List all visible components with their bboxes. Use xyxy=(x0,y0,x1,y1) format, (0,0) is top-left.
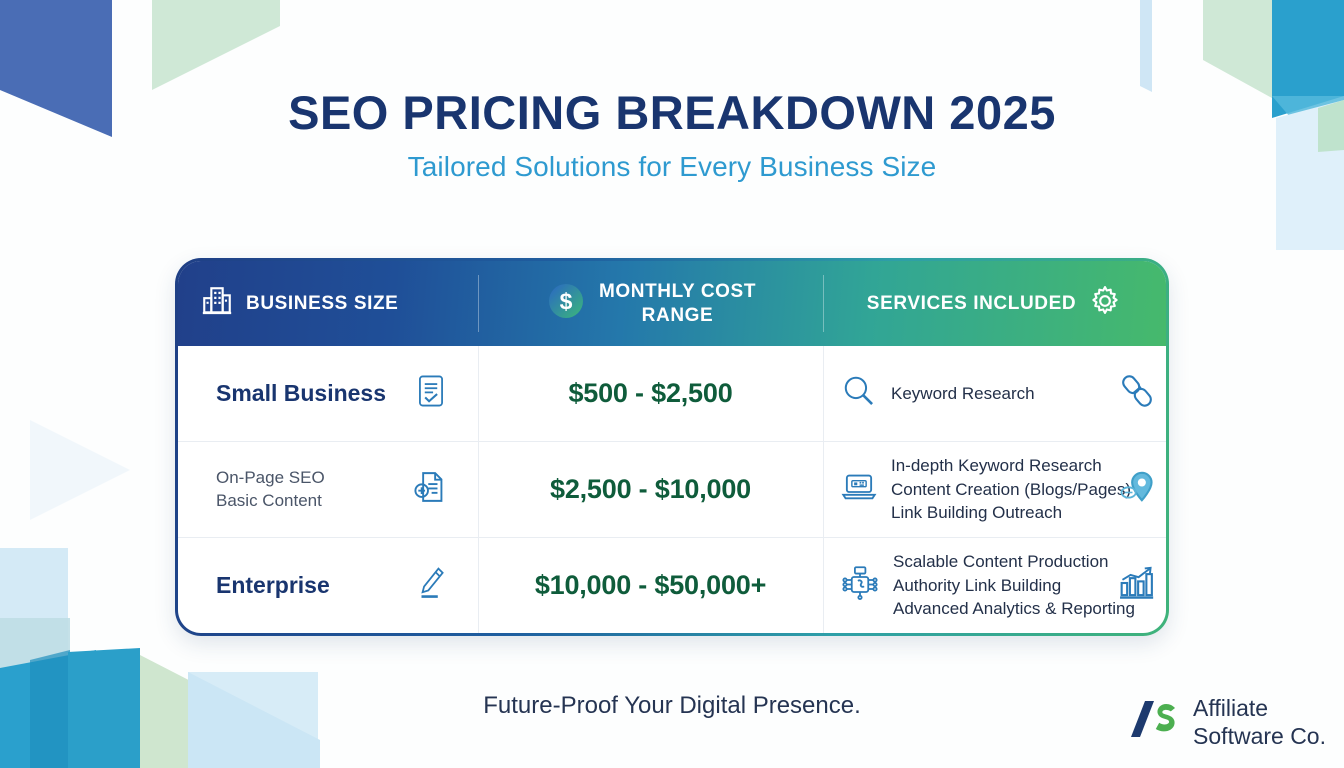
gear-icon xyxy=(1088,284,1122,323)
business-size-label: On-Page SEO Basic Content xyxy=(216,467,325,513)
cost-value: $2,500 - $10,000 xyxy=(550,474,751,505)
laptop-icon xyxy=(839,467,879,512)
deco-shape-top-right-paleblue xyxy=(1140,0,1152,92)
table-row: On-Page SEO Basic Content xyxy=(178,441,1166,537)
cell-monthly-cost: $10,000 - $50,000+ xyxy=(478,538,823,633)
magnifier-icon xyxy=(839,371,879,416)
deco-shape-bottom-left-paleblue-2 xyxy=(188,672,318,768)
title-block: SEO PRICING BREAKDOWN 2025 Tailored Solu… xyxy=(0,88,1344,183)
service-item: Link Building Outreach xyxy=(891,501,1112,524)
link-chain-icon xyxy=(1116,370,1158,417)
brand-name: Affiliate Software Co. xyxy=(1193,695,1326,749)
page-subtitle: Tailored Solutions for Every Business Si… xyxy=(0,151,1344,183)
services-list: Scalable Content Production Authority Li… xyxy=(893,550,1112,620)
deco-shape-top-left-green xyxy=(152,0,280,90)
business-size-label: Enterprise xyxy=(216,572,330,599)
svg-text:$: $ xyxy=(560,289,573,315)
map-pin-icon xyxy=(1116,466,1158,513)
cell-services: In-depth Keyword Research Content Creati… xyxy=(823,442,1166,537)
cell-services: Keyword Research xyxy=(823,346,1166,441)
cost-value: $10,000 - $50,000+ xyxy=(535,570,766,601)
column-header-label: BUSINESS SIZE xyxy=(246,292,398,315)
services-list: In-depth Keyword Research Content Creati… xyxy=(891,454,1112,524)
service-item: Advanced Analytics & Reporting xyxy=(893,597,1112,620)
service-item: Scalable Content Production xyxy=(893,550,1112,573)
table-row: Small Business $500 - $2, xyxy=(178,346,1166,441)
table-header-row: BUSINESS SIZE $ xyxy=(178,261,1166,346)
column-header-business-size: BUSINESS SIZE xyxy=(178,261,478,346)
table-row: Enterprise $10,000 - $50,000+ xyxy=(178,537,1166,633)
business-size-label: Small Business xyxy=(216,380,386,407)
pencil-icon xyxy=(414,564,448,607)
deco-shape-bottom-mid-paleblue xyxy=(188,672,320,768)
building-icon xyxy=(200,284,234,323)
column-header-monthly-cost: $ MONTHLY COST RANGE xyxy=(478,261,823,346)
service-item: Content Creation (Blogs/Pages) xyxy=(891,478,1112,501)
bar-chart-icon xyxy=(1116,562,1158,609)
document-plus-icon xyxy=(410,468,448,511)
page-title: SEO PRICING BREAKDOWN 2025 xyxy=(0,88,1344,137)
cell-services: Scalable Content Production Authority Li… xyxy=(823,538,1166,633)
column-header-label: MONTHLY COST RANGE xyxy=(599,280,756,326)
column-header-label: SERVICES INCLUDED xyxy=(867,292,1076,315)
cell-business-size: On-Page SEO Basic Content xyxy=(178,442,478,537)
cell-monthly-cost: $500 - $2,500 xyxy=(478,346,823,441)
cost-value: $500 - $2,500 xyxy=(568,378,732,409)
deco-shape-bottom-left-pale xyxy=(0,548,68,768)
services-list: Keyword Research xyxy=(891,382,1112,405)
table-body: Small Business $500 - $2, xyxy=(178,346,1166,633)
cell-monthly-cost: $2,500 - $10,000 xyxy=(478,442,823,537)
deco-shape-top-right-green xyxy=(1203,0,1272,98)
document-check-icon xyxy=(414,373,448,414)
cell-business-size: Enterprise xyxy=(178,538,478,633)
service-item: In-depth Keyword Research xyxy=(891,454,1112,477)
brand-logo: Affiliate Software Co. xyxy=(1123,695,1326,750)
cell-business-size: Small Business xyxy=(178,346,478,441)
dollar-badge-icon: $ xyxy=(545,280,587,327)
deco-shape-watermark xyxy=(30,420,130,520)
service-item: Authority Link Building xyxy=(893,574,1112,597)
service-item: Keyword Research xyxy=(891,382,1112,405)
column-header-services-included: SERVICES INCLUDED xyxy=(823,261,1166,346)
infographic-canvas: SEO PRICING BREAKDOWN 2025 Tailored Solu… xyxy=(0,0,1344,768)
pricing-card: BUSINESS SIZE $ xyxy=(175,258,1169,636)
network-node-icon xyxy=(839,562,881,609)
affiliate-software-mark-icon xyxy=(1123,695,1181,750)
